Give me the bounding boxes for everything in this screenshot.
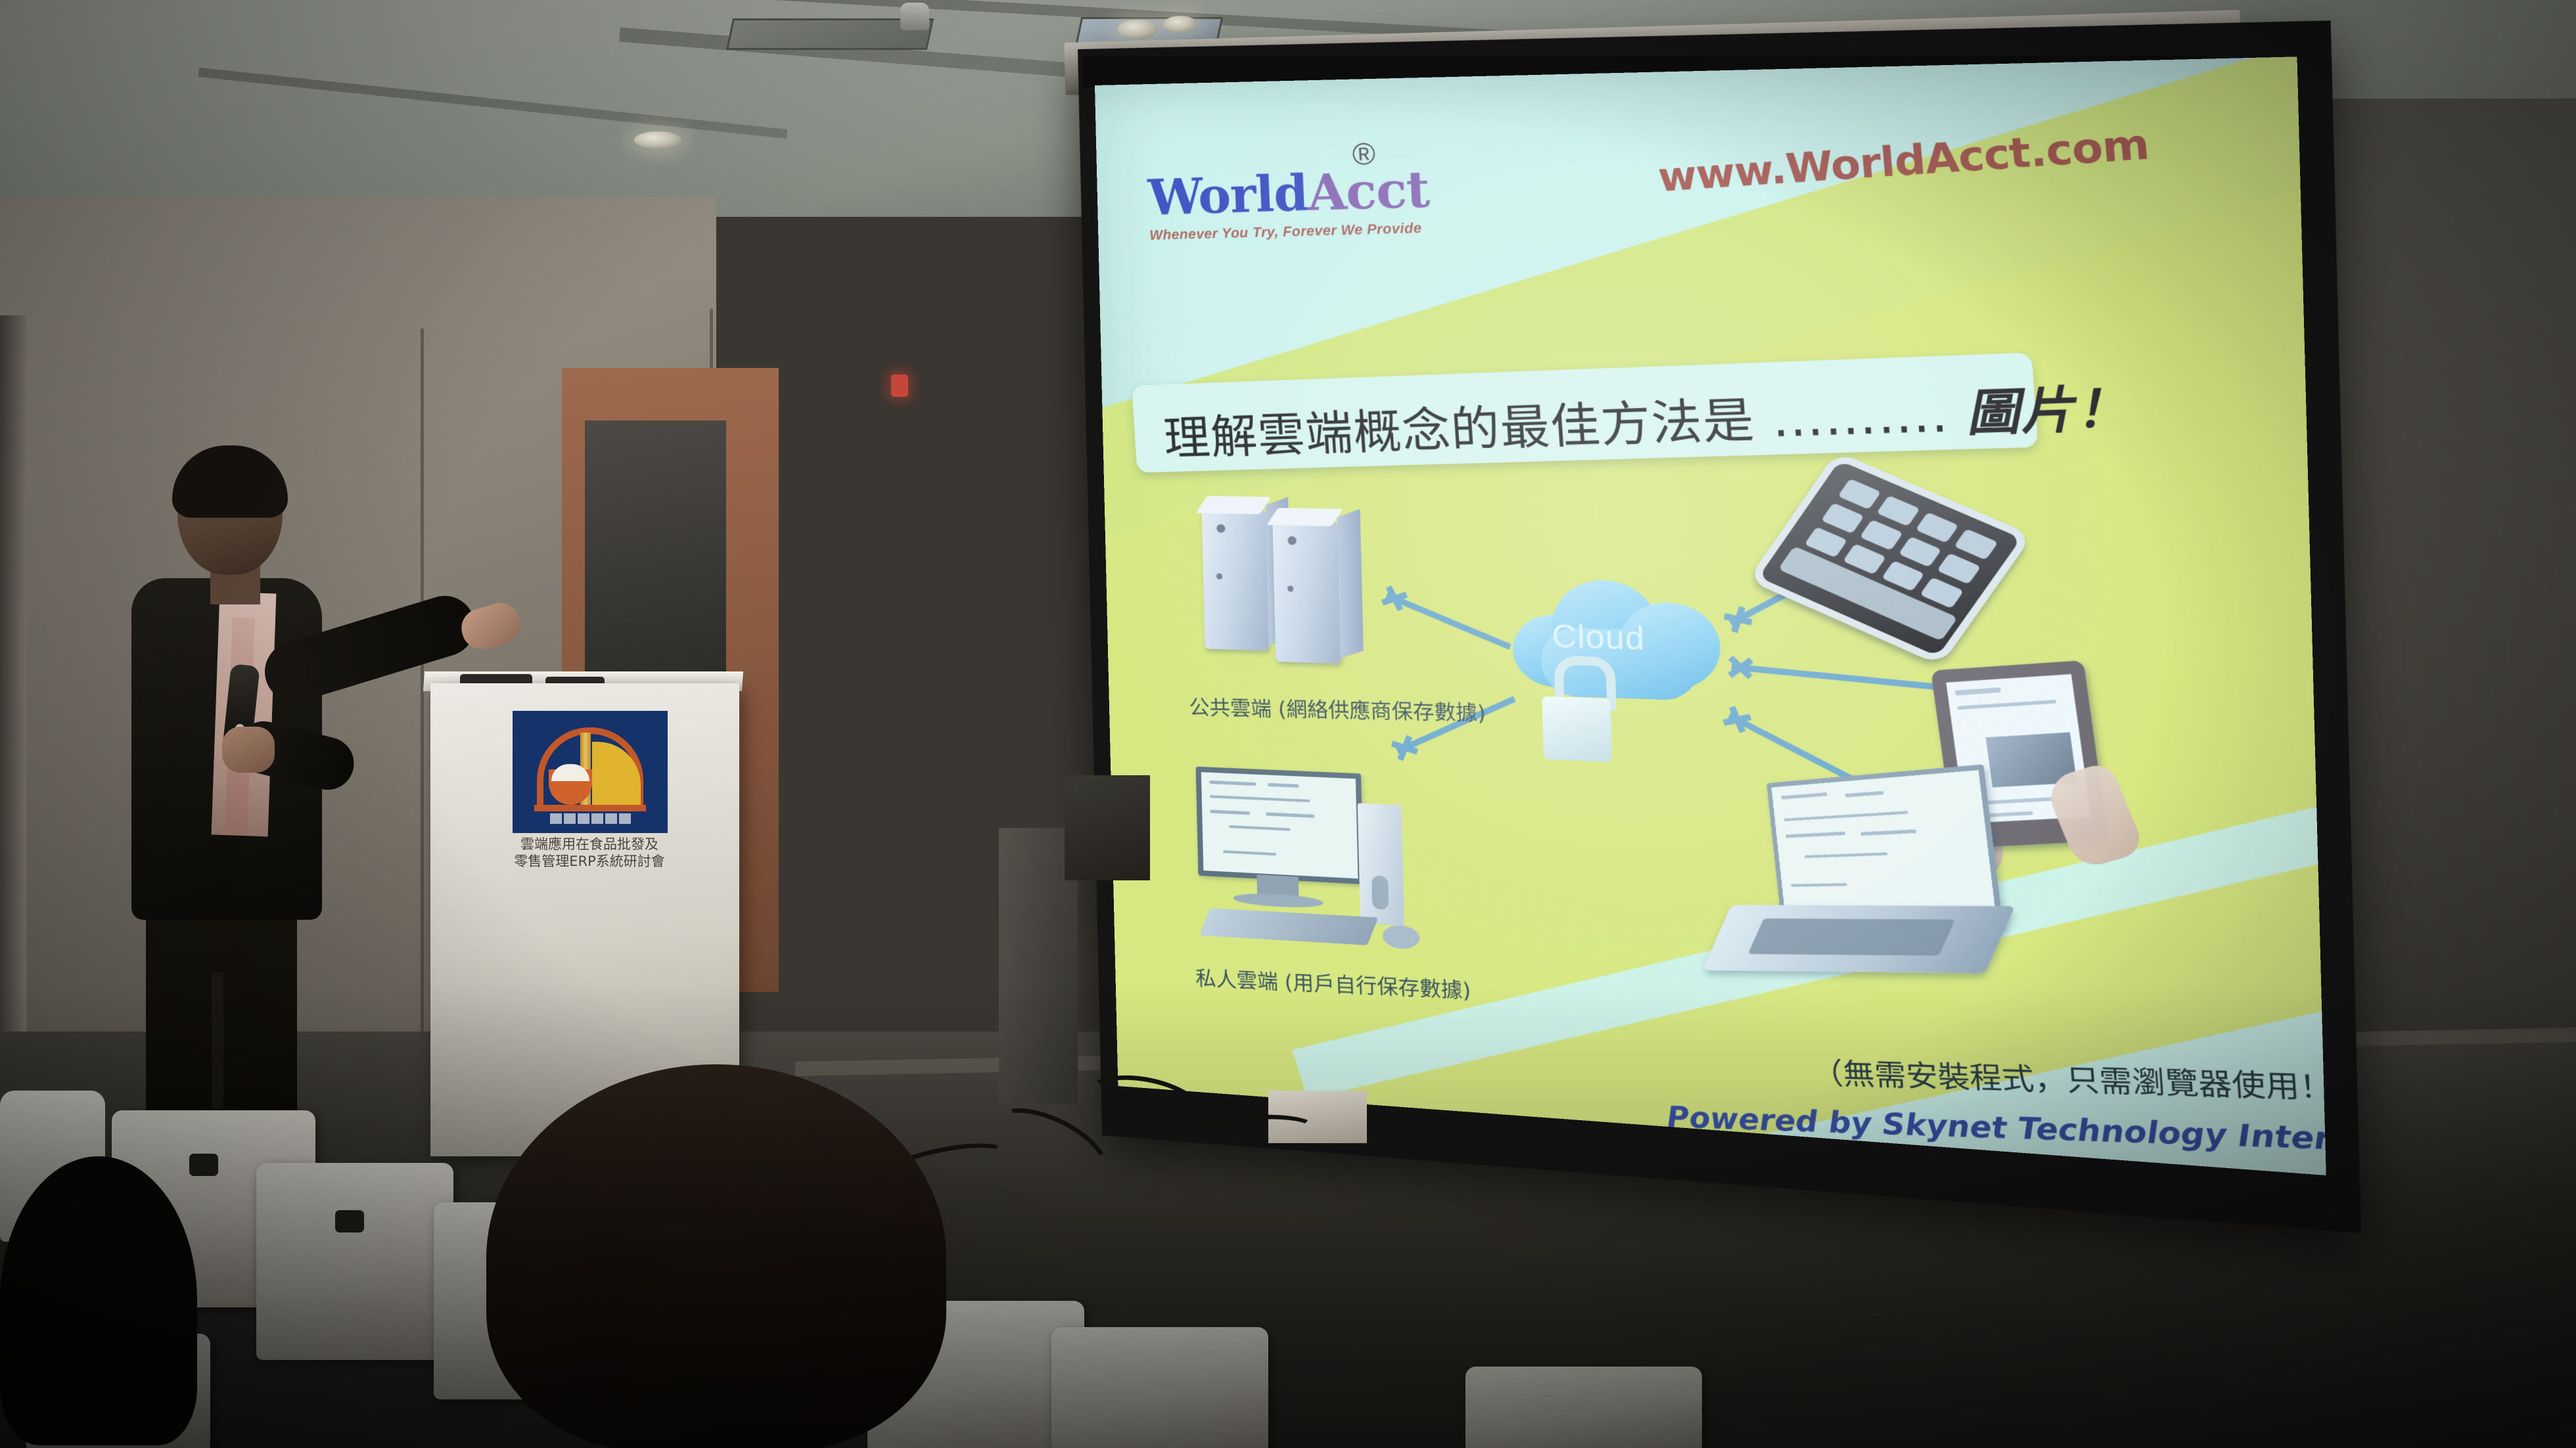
laptop-icon	[1716, 768, 2013, 995]
chair	[1051, 1327, 1268, 1448]
presentation-room-photo: WorldAcct Whenever You Try, Forever We P…	[0, 0, 2576, 1448]
ceiling-light-icon	[634, 131, 681, 148]
server-icon	[1202, 509, 1269, 650]
worldacct-logo: WorldAcct Whenever You Try, Forever We P…	[1147, 164, 1431, 244]
private-cloud-label: 私人雲端 (用戶自行保存數據)	[1195, 961, 1471, 1004]
attendee	[0, 1156, 197, 1445]
projected-slide: WorldAcct Whenever You Try, Forever We P…	[1095, 57, 2326, 1175]
slide-title-accent: 圖片！	[1964, 378, 2132, 443]
speaker-mic-hand	[222, 727, 275, 773]
registered-trademark-icon: ®	[1351, 135, 1376, 173]
server-group-icon	[1201, 503, 1373, 674]
logo-text-world: World	[1147, 164, 1309, 226]
av-equipment-box	[1065, 775, 1150, 880]
event-title-caption: 雲端應用在食品批發及 零售管理ERP系統研討會	[494, 836, 685, 871]
smartphone-icon	[1747, 451, 2033, 666]
speaker-hair	[172, 445, 288, 518]
sprinkler-icon	[900, 3, 929, 30]
chair	[1465, 1367, 1702, 1448]
cloud-label: Cloud	[1552, 618, 1645, 658]
desktop-computer-icon	[1196, 767, 1402, 959]
arrow-cloud-to-tablet	[1732, 664, 1956, 692]
emergency-light-icon	[891, 374, 908, 397]
chair	[256, 1163, 453, 1360]
wall-corner-column	[0, 315, 26, 1091]
event-title-line2: 零售管理ERP系統研討會	[494, 853, 685, 870]
attendee-head	[486, 1064, 946, 1448]
event-logo-sign	[513, 711, 668, 833]
padlock-icon	[1542, 679, 1612, 763]
arrow-servers-to-cloud	[1386, 593, 1511, 650]
projection-screen: WorldAcct Whenever You Try, Forever We P…	[1051, 26, 2241, 1202]
public-cloud-label: 公共雲端 (網絡供應商保存數據)	[1189, 690, 1486, 727]
server-icon	[1272, 521, 1341, 664]
event-title-line1: 雲端應用在食品批發及	[494, 836, 685, 853]
door-window	[585, 420, 726, 696]
